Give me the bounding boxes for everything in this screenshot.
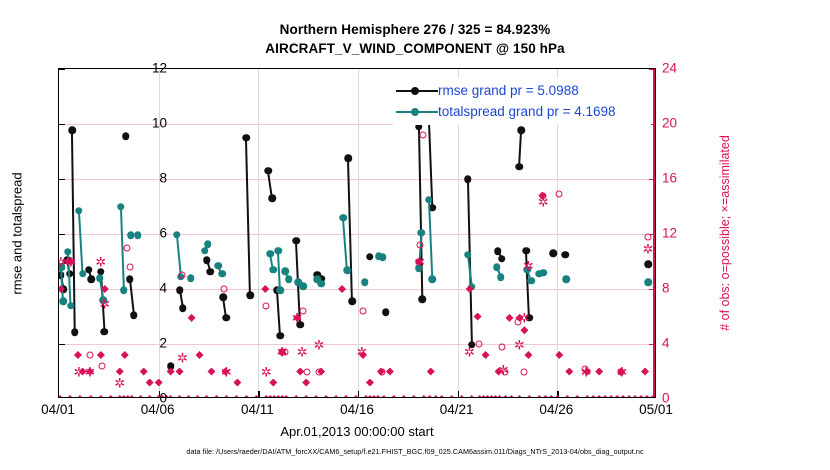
data-point-totalspread <box>187 274 195 282</box>
legend-entry-rmse: rmse grand pr = 5.0988 <box>396 80 648 101</box>
obs-baseline-marker <box>563 395 571 397</box>
obs-marker <box>233 379 241 387</box>
data-point-totalspread <box>428 276 436 284</box>
obs-marker <box>386 368 394 376</box>
series-segment <box>78 211 83 274</box>
obs-baseline-marker <box>222 395 230 397</box>
data-point-rmse <box>494 247 502 255</box>
obs-baseline-marker <box>342 395 350 397</box>
obs-possible-marker <box>263 302 270 309</box>
data-point-totalspread <box>117 203 125 211</box>
y-tick-label-left: 10 <box>127 116 167 131</box>
data-point-rmse <box>101 328 109 336</box>
data-point-rmse <box>562 251 570 259</box>
data-point-totalspread <box>563 276 571 284</box>
obs-baseline-marker <box>400 395 408 397</box>
obs-baseline-marker <box>292 395 300 397</box>
data-point-rmse <box>122 133 130 141</box>
legend-label-totalspread: totalspread grand pr = 4.1698 <box>438 104 616 119</box>
y-tick-label-right: 4 <box>662 336 702 351</box>
obs-marker <box>140 368 148 376</box>
obs-baseline-marker <box>507 395 515 397</box>
obs-marker <box>338 285 346 293</box>
x-axis-label: Apr.01,2013 00:00:00 start <box>58 424 656 439</box>
legend-marker-rmse-icon <box>396 85 438 97</box>
data-point-totalspread <box>361 278 369 286</box>
x-tick <box>258 391 259 397</box>
y-tick-left <box>59 69 65 70</box>
obs-baseline-marker <box>619 395 627 397</box>
x-tick-label: 04/16 <box>340 402 374 417</box>
obs-baseline-marker <box>232 395 240 397</box>
obs-baseline-marker <box>97 395 105 397</box>
obs-possible-marker <box>87 352 94 359</box>
data-point-totalspread <box>528 277 536 285</box>
obs-marker <box>188 314 196 322</box>
data-point-rmse <box>366 253 374 261</box>
obs-marker <box>74 351 82 359</box>
obs-baseline-marker <box>194 395 202 397</box>
obs-marker <box>196 351 204 359</box>
obs-baseline-marker <box>643 395 651 397</box>
data-point-rmse <box>243 134 251 142</box>
y-tick-left <box>59 179 65 180</box>
chart-title-line2: AIRCRAFT_V_WIND_COMPONENT @ 150 hPa <box>0 41 830 56</box>
gridline-vertical <box>258 69 259 397</box>
data-point-totalspread <box>270 266 278 274</box>
obs-baseline-marker <box>583 395 591 397</box>
x-tick-label: 04/01 <box>41 402 75 417</box>
obs-baseline-marker <box>625 395 633 397</box>
obs-marker <box>505 314 513 322</box>
y-tick-label-left: 4 <box>127 281 167 296</box>
obs-assimilated-marker: ✲ <box>464 347 475 358</box>
series-segment <box>276 290 281 335</box>
obs-marker <box>121 351 129 359</box>
data-point-rmse <box>550 250 558 258</box>
obs-marker <box>474 313 482 321</box>
data-point-totalspread <box>96 274 104 282</box>
data-point-rmse <box>516 163 524 171</box>
obs-baseline-marker <box>107 395 115 397</box>
data-point-totalspread <box>418 229 426 237</box>
y-tick-label-right: 20 <box>662 116 702 131</box>
obs-baseline-marker <box>59 395 64 397</box>
x-tick <box>458 391 459 397</box>
obs-baseline-marker <box>553 395 561 397</box>
obs-baseline-marker <box>502 395 510 397</box>
obs-baseline-marker <box>420 395 428 397</box>
obs-baseline-marker <box>76 395 84 397</box>
obs-marker <box>482 351 490 359</box>
data-point-rmse <box>223 314 231 322</box>
series-segment <box>519 130 523 167</box>
data-point-rmse <box>277 332 285 340</box>
obs-marker <box>155 379 163 387</box>
obs-possible-marker <box>221 286 228 293</box>
obs-marker <box>565 368 573 376</box>
data-point-totalspread <box>277 287 285 295</box>
obs-baseline-marker <box>613 395 621 397</box>
obs-marker <box>261 285 269 293</box>
y-axis-right-spine <box>653 69 655 397</box>
data-point-rmse <box>498 255 506 263</box>
obs-possible-marker <box>645 233 652 240</box>
data-point-rmse <box>179 305 187 313</box>
obs-marker <box>366 379 374 387</box>
obs-baseline-marker <box>410 395 418 397</box>
obs-marker <box>520 326 528 334</box>
obs-possible-marker <box>416 242 423 249</box>
obs-baseline-marker <box>535 395 543 397</box>
data-point-rmse <box>130 311 138 319</box>
data-point-rmse <box>265 167 273 175</box>
obs-assimilated-marker: ✲ <box>177 352 188 363</box>
series-segment <box>342 217 348 270</box>
obs-assimilated-marker: ✲ <box>523 260 534 271</box>
y-tick-left <box>59 124 65 125</box>
y-tick-left <box>59 344 65 345</box>
obs-possible-marker <box>419 132 426 139</box>
obs-baseline-marker <box>525 395 533 397</box>
data-point-rmse <box>85 266 93 274</box>
obs-marker <box>176 368 184 376</box>
y-tick-left <box>59 234 65 235</box>
obs-assimilated-marker: ✲ <box>314 340 325 351</box>
y-tick-label-left: 2 <box>127 336 167 351</box>
obs-possible-marker <box>304 368 311 375</box>
series-segment <box>176 234 182 276</box>
obs-baseline-marker <box>312 395 320 397</box>
obs-baseline-marker <box>607 395 615 397</box>
data-point-totalspread <box>281 267 289 275</box>
data-point-totalspread <box>464 251 472 259</box>
obs-marker <box>207 368 215 376</box>
obs-possible-marker <box>178 272 185 279</box>
data-point-totalspread <box>275 247 283 255</box>
obs-assimilated-marker: ✲ <box>538 197 549 208</box>
obs-baseline-marker <box>541 395 549 397</box>
obs-baseline-marker <box>176 395 184 397</box>
data-point-rmse <box>344 155 352 163</box>
obs-marker <box>146 379 154 387</box>
obs-marker <box>269 379 277 387</box>
x-tick-label: 04/26 <box>539 402 573 417</box>
obs-possible-marker <box>123 244 130 251</box>
data-point-totalspread <box>285 276 293 284</box>
data-point-totalspread <box>79 270 87 278</box>
x-tick-label: 04/21 <box>440 402 474 417</box>
obs-baseline-marker <box>595 395 603 397</box>
obs-baseline-marker <box>547 395 555 397</box>
data-point-rmse <box>418 296 426 304</box>
obs-baseline-marker <box>212 395 220 397</box>
obs-marker <box>641 368 649 376</box>
obs-possible-marker <box>521 368 528 375</box>
obs-possible-marker <box>498 343 505 350</box>
obs-marker <box>296 368 304 376</box>
obs-marker <box>427 368 435 376</box>
obs-baseline-marker <box>390 395 398 397</box>
y-axis-left-label: rmse and totalspread <box>8 68 26 398</box>
x-tick-label: 04/11 <box>241 402 274 417</box>
obs-baseline-marker <box>380 395 388 397</box>
obs-assimilated-marker: ✲ <box>114 377 125 388</box>
x-tick-label: 04/06 <box>141 402 175 417</box>
obs-assimilated-marker: ✲ <box>643 244 654 255</box>
obs-baseline-marker <box>515 395 523 397</box>
data-point-totalspread <box>173 231 181 239</box>
y-tick-label-right: 8 <box>662 281 702 296</box>
obs-assimilated-marker: ✲ <box>99 299 110 310</box>
obs-baseline-marker <box>631 395 639 397</box>
data-point-rmse <box>523 247 531 255</box>
y-tick-label-right: 12 <box>662 226 702 241</box>
y-tick-label-left: 6 <box>127 226 167 241</box>
data-point-totalspread <box>317 280 325 288</box>
obs-assimilated-marker: ✲ <box>95 256 106 267</box>
data-point-totalspread <box>379 254 387 262</box>
obs-baseline-marker <box>448 395 456 397</box>
data-point-rmse <box>348 298 356 306</box>
obs-marker <box>524 351 532 359</box>
data-point-rmse <box>176 287 184 295</box>
obs-baseline-marker <box>573 395 581 397</box>
obs-marker <box>97 351 105 359</box>
x-tick-label: 05/01 <box>639 402 673 417</box>
y-axis-right-label: # of obs: o=possible; ×=assimilated <box>716 68 734 398</box>
obs-baseline-marker <box>185 395 193 397</box>
legend-entry-totalspread: totalspread grand pr = 4.1698 <box>396 101 648 122</box>
obs-baseline-marker <box>601 395 609 397</box>
obs-assimilated-marker: ✲ <box>261 366 272 377</box>
data-point-rmse <box>206 268 214 276</box>
data-point-totalspread <box>267 250 275 258</box>
legend-label-rmse: rmse grand pr = 5.0988 <box>438 83 579 98</box>
chart-legend: rmse grand pr = 5.0988 totalspread grand… <box>393 78 651 125</box>
y-tick-label-left: 8 <box>127 171 167 186</box>
data-file-footer: data file: /Users/raeder/DAI/ATM_forcXX/… <box>0 447 830 456</box>
obs-possible-marker <box>359 308 366 315</box>
obs-baseline-marker <box>242 395 250 397</box>
data-point-rmse <box>382 309 390 317</box>
data-point-rmse <box>292 237 300 245</box>
series-segment <box>418 127 423 300</box>
y-tick-label-right: 16 <box>662 171 702 186</box>
obs-possible-marker <box>99 363 106 370</box>
series-segment <box>467 254 473 286</box>
data-point-totalspread <box>425 196 433 204</box>
data-point-rmse <box>247 291 255 299</box>
data-point-totalspread <box>540 269 548 277</box>
data-point-rmse <box>518 126 526 134</box>
data-point-totalspread <box>75 207 83 215</box>
data-point-totalspread <box>343 267 351 275</box>
data-point-rmse <box>220 294 228 302</box>
obs-baseline-marker <box>637 395 645 397</box>
y-tick-label-right: 24 <box>662 61 702 76</box>
data-point-totalspread <box>299 283 307 291</box>
data-point-totalspread <box>215 262 223 270</box>
obs-baseline-marker <box>66 395 74 397</box>
data-point-rmse <box>203 256 211 264</box>
obs-baseline-marker <box>589 395 597 397</box>
obs-baseline-marker <box>87 395 95 397</box>
data-point-rmse <box>71 329 79 337</box>
obs-assimilated-marker: ✲ <box>514 340 525 351</box>
data-point-totalspread <box>67 302 75 310</box>
obs-baseline-marker <box>322 395 330 397</box>
y-axis-right-label-text: # of obs: o=possible; ×=assimilated <box>718 135 732 331</box>
data-point-rmse <box>644 261 652 269</box>
legend-marker-totalspread-icon <box>396 106 438 118</box>
data-point-totalspread <box>339 214 347 222</box>
data-point-rmse <box>88 276 96 284</box>
data-point-rmse <box>68 126 76 134</box>
series-segment <box>428 121 433 208</box>
series-segment <box>245 138 251 295</box>
data-point-rmse <box>464 175 472 183</box>
obs-baseline-marker <box>203 395 211 397</box>
data-point-totalspread <box>204 241 212 249</box>
y-axis-left-label-text: rmse and totalspread <box>10 172 25 294</box>
obs-possible-marker <box>475 341 482 348</box>
obs-possible-marker <box>556 191 563 198</box>
obs-baseline-marker <box>302 395 310 397</box>
x-tick <box>358 391 359 397</box>
obs-possible-marker <box>126 264 133 271</box>
obs-baseline-marker <box>468 395 476 397</box>
obs-marker <box>302 379 310 387</box>
obs-baseline-marker <box>332 395 340 397</box>
obs-assimilated-marker: ✲ <box>297 347 308 358</box>
data-point-rmse <box>269 195 277 203</box>
data-point-totalspread <box>497 274 505 282</box>
obs-marker <box>595 368 603 376</box>
y-tick-label-left: 12 <box>127 61 167 76</box>
obs-baseline-marker <box>432 395 440 397</box>
data-point-totalspread <box>644 278 652 286</box>
chart-title-line1: Northern Hemisphere 276 / 325 = 84.923% <box>0 22 830 37</box>
obs-baseline-marker <box>426 395 434 397</box>
obs-baseline-marker <box>438 395 446 397</box>
data-point-totalspread <box>493 263 501 271</box>
data-point-totalspread <box>218 270 226 278</box>
